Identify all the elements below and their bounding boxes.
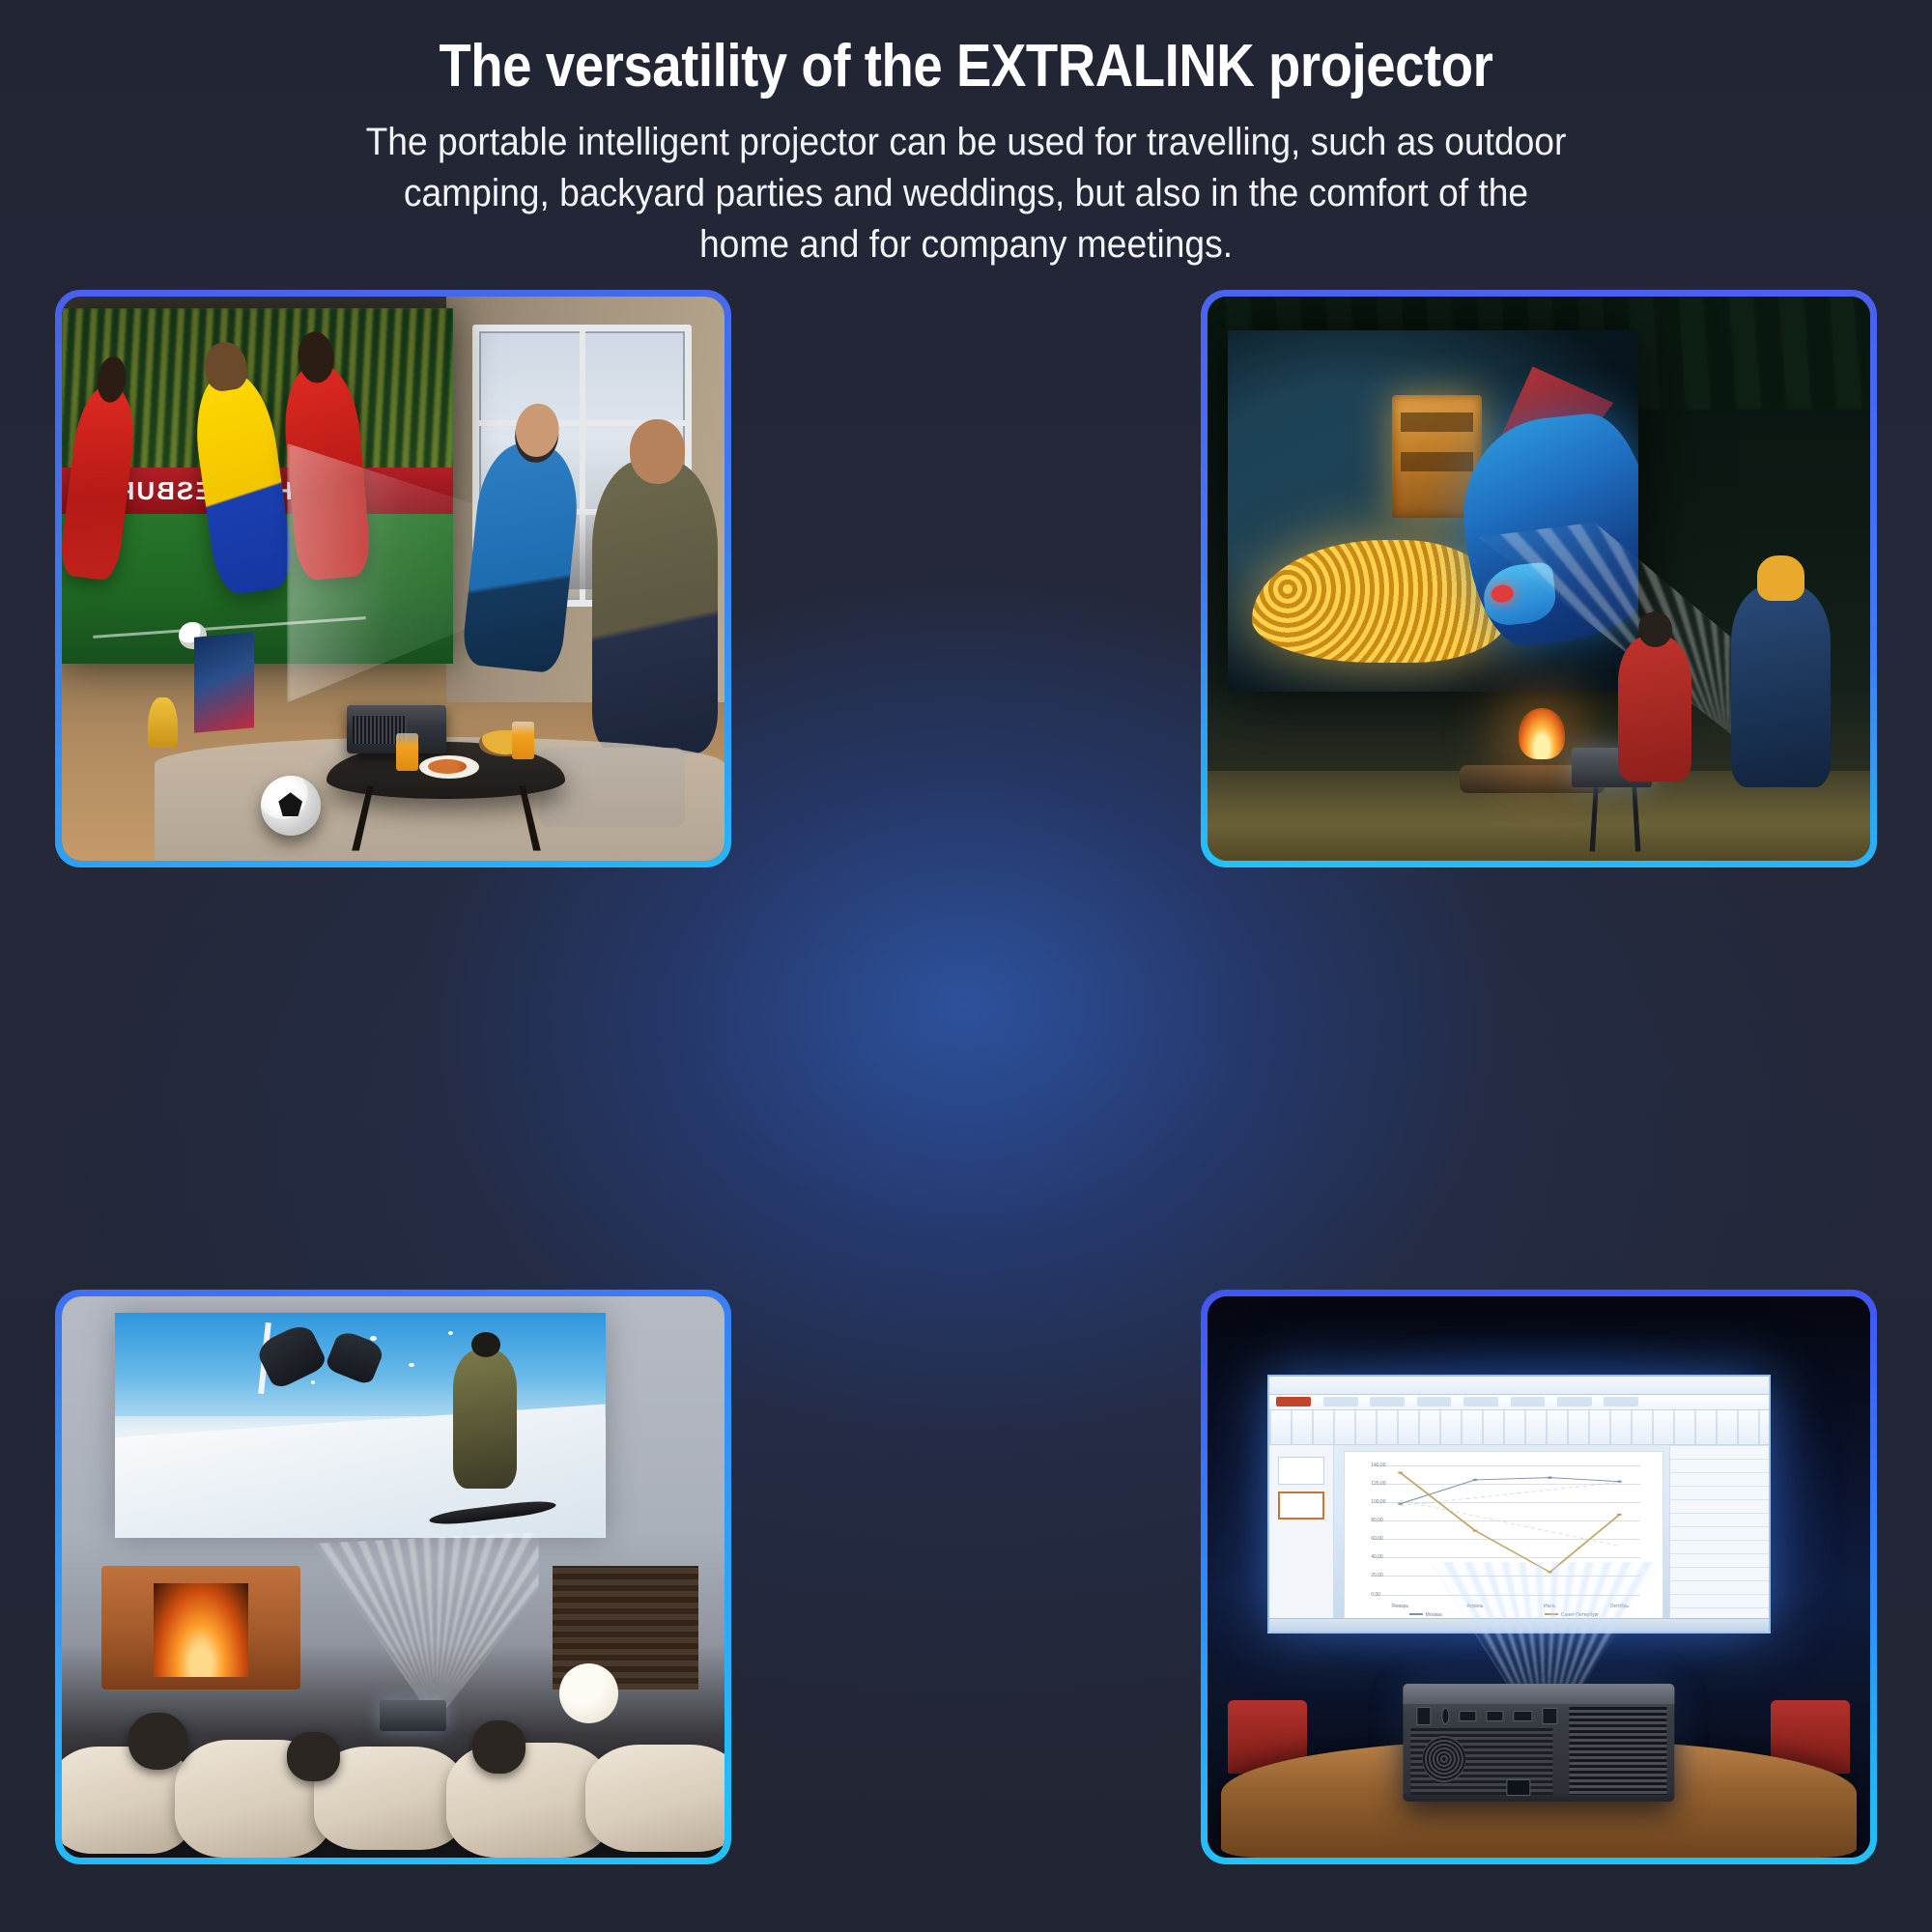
ribbon-tab-view[interactable] xyxy=(1604,1397,1638,1406)
series-moskva-point xyxy=(1398,1502,1403,1504)
usb-port-icon xyxy=(1460,1711,1477,1722)
panel-image-company-meeting: 140,00 120,00 100,00 80,00 60,00 40,00 2… xyxy=(1207,1296,1870,1858)
page-title: The versatility of the EXTRALINK project… xyxy=(439,35,1492,98)
legend-entry-moskva: Москва xyxy=(1409,1612,1442,1618)
projector-speaker-grille xyxy=(1422,1736,1465,1783)
series-spb-point xyxy=(1398,1471,1403,1473)
series-trend-b xyxy=(1401,1500,1620,1546)
ribbon-tab-animations[interactable] xyxy=(1511,1397,1546,1406)
slide-thumbnail-1[interactable] xyxy=(1278,1457,1324,1485)
projector-port-row xyxy=(1416,1707,1557,1724)
lan-port-icon xyxy=(1542,1708,1557,1725)
panel-image-outdoor-camping: Night-time outdoor camping — family arou… xyxy=(1207,297,1870,861)
panel-grid: JOHANNESBURG Indoor living room — two me… xyxy=(55,290,1877,1864)
projector-device xyxy=(1403,1684,1674,1802)
panel-living-room-sports[interactable]: JOHANNESBURG Indoor living room — two me… xyxy=(55,290,731,867)
series-spb-point xyxy=(1472,1529,1477,1531)
powerpoint-ribbon-tabs xyxy=(1269,1395,1769,1410)
ribbon-tab-insert[interactable] xyxy=(1370,1397,1405,1406)
series-spb-point xyxy=(1617,1514,1622,1516)
person-head xyxy=(472,1720,526,1774)
wall-poster xyxy=(194,633,254,734)
slide-thumbnail-pane[interactable] xyxy=(1269,1445,1334,1631)
pillow-area xyxy=(62,1666,724,1858)
powerpoint-ribbon xyxy=(1269,1410,1769,1446)
portable-projection-screen xyxy=(1228,330,1638,692)
slide-thumbnail-2[interactable] xyxy=(1278,1492,1324,1520)
projector-vents-right xyxy=(1569,1707,1666,1794)
hdmi-port-icon xyxy=(1513,1711,1532,1721)
wall-projection-snowboard xyxy=(115,1313,606,1537)
headphone-jack-icon xyxy=(1441,1708,1449,1723)
juice-glass-left xyxy=(396,733,418,771)
ribbon-tab-design[interactable] xyxy=(1417,1397,1452,1406)
panel-image-living-room-sports: JOHANNESBURG Indoor living room — two me… xyxy=(62,297,724,861)
child-red-jacket xyxy=(1618,635,1690,781)
format-task-pane[interactable] xyxy=(1669,1445,1769,1631)
coffee-table-legs xyxy=(352,786,541,851)
ribbon-tab-transitions[interactable] xyxy=(1463,1397,1498,1406)
person-green-jacket xyxy=(592,460,718,753)
panel-image-home-cinema: Cosy home cinema — people lying on pillo… xyxy=(62,1296,724,1858)
snowflake xyxy=(311,1380,316,1383)
spdif-port-icon xyxy=(1416,1707,1431,1724)
projector-tripod xyxy=(1589,785,1640,852)
campfire xyxy=(1519,708,1565,759)
panel-home-cinema-snowboard[interactable]: Cosy home cinema — people lying on pillo… xyxy=(55,1290,731,1864)
header: The versatility of the EXTRALINK project… xyxy=(0,0,1932,290)
ribbon-tab-home[interactable] xyxy=(1323,1397,1358,1406)
juice-glass-right xyxy=(512,722,534,759)
ribbon-tab-slideshow[interactable] xyxy=(1557,1397,1592,1406)
series-trend-a xyxy=(1401,1482,1620,1505)
series-moskva-point xyxy=(1548,1476,1552,1478)
projector-top-panel xyxy=(1403,1684,1674,1704)
power-socket-icon xyxy=(1506,1779,1530,1796)
series-moskva-point xyxy=(1617,1480,1622,1482)
usb-port-icon xyxy=(1486,1711,1503,1722)
adult-yellow-beanie xyxy=(1731,584,1831,787)
floor-pillow xyxy=(585,1745,724,1852)
main-snowboarder xyxy=(453,1350,517,1489)
series-spb-line xyxy=(1401,1472,1620,1572)
series-moskva-line xyxy=(1401,1477,1620,1503)
snowflake xyxy=(448,1331,453,1335)
trophy xyxy=(148,697,178,749)
snowflake xyxy=(370,1336,377,1342)
panel-company-meeting[interactable]: 140,00 120,00 100,00 80,00 60,00 40,00 2… xyxy=(1201,1290,1877,1864)
powerpoint-titlebar xyxy=(1269,1377,1769,1394)
football-ball xyxy=(261,776,321,836)
page-subtitle: The portable intelligent projector can b… xyxy=(364,117,1568,270)
panel-outdoor-camping-dragon[interactable]: Night-time outdoor camping — family arou… xyxy=(1201,290,1877,867)
fire-flames xyxy=(154,1583,249,1677)
ribbon-tab-file[interactable] xyxy=(1276,1397,1311,1406)
person-head xyxy=(287,1732,340,1781)
snow-slope xyxy=(115,1399,606,1538)
person-head xyxy=(128,1713,188,1770)
series-moskva-point xyxy=(1472,1479,1477,1481)
snowflake xyxy=(409,1363,414,1367)
